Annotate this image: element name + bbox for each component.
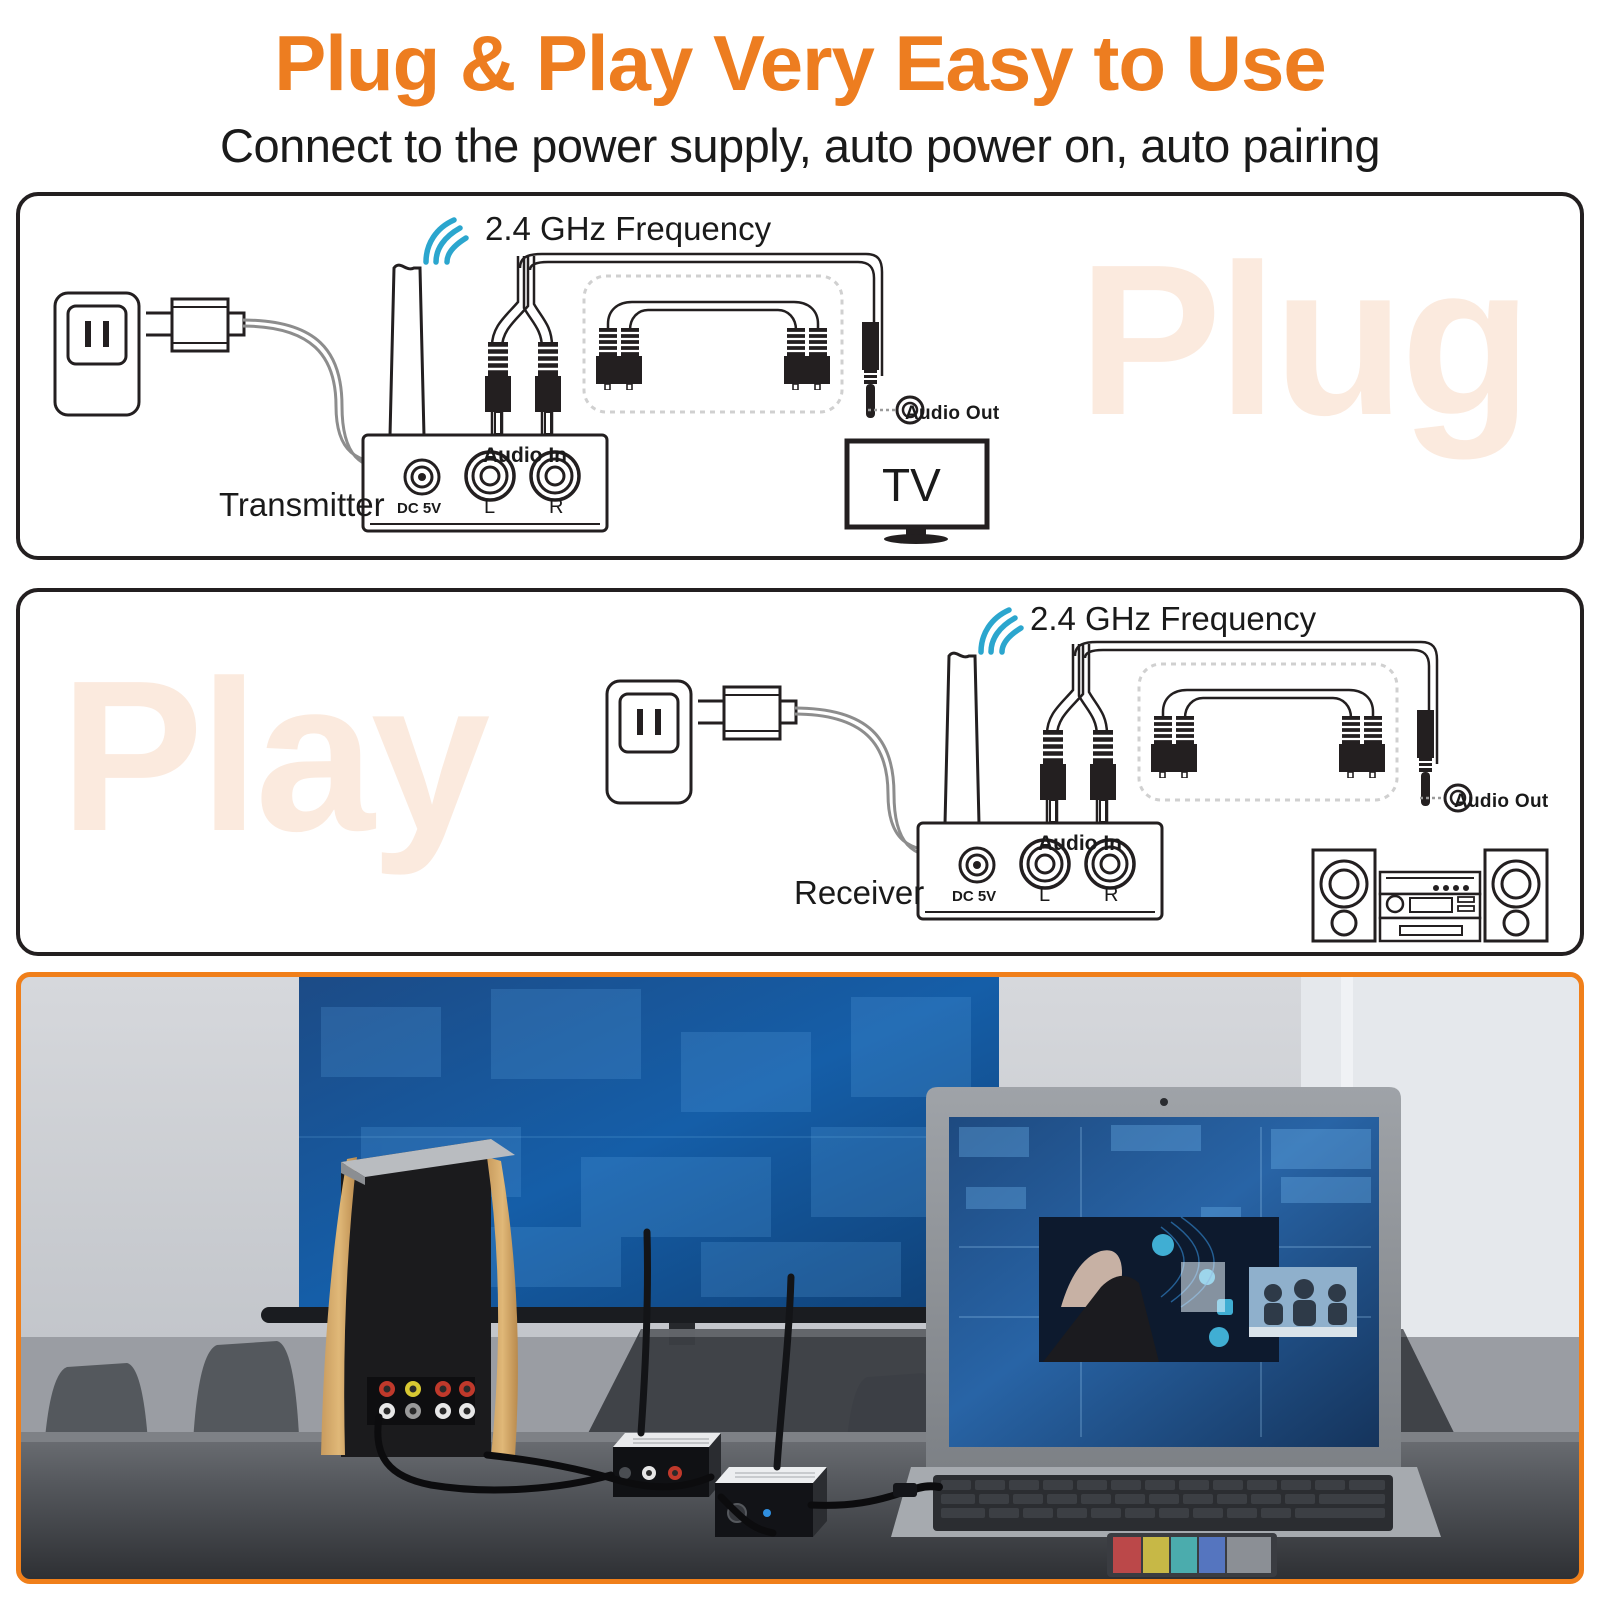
frequency-label-play: 2.4 GHz Frequency <box>1030 600 1316 638</box>
audio-out-dotted-line <box>1420 796 1444 800</box>
page-title: Plug & Play Very Easy to Use <box>0 24 1600 102</box>
receiver-label: Receiver <box>794 874 924 912</box>
aux-35mm-jack-icon <box>854 322 886 428</box>
dc-label-play: DC 5V <box>952 888 996 905</box>
audio-out-label-play: Audio Out <box>1454 791 1549 813</box>
antenna-icon <box>935 634 991 830</box>
product-lifestyle-photo <box>16 972 1584 1584</box>
usb-power-adapter-icon <box>146 294 252 364</box>
rca-to-rca-cable <box>588 280 838 390</box>
wall-outlet-icon <box>52 290 142 418</box>
audio-out-dotted-line <box>868 408 896 412</box>
watermark-play: Play <box>60 648 486 863</box>
usb-power-adapter-icon <box>698 682 804 752</box>
audio-in-label-play: Audio In <box>1038 832 1122 856</box>
stereo-hifi-system-icon <box>1310 844 1550 944</box>
dc-label-plug: DC 5V <box>397 500 441 517</box>
right-port-label-plug: R <box>549 496 563 519</box>
aux-35mm-jack-icon <box>1409 710 1441 816</box>
page-subtitle: Connect to the power supply, auto power … <box>0 118 1600 173</box>
panel-play: Play 2.4 GHz Frequency <box>16 588 1584 956</box>
rca-to-rca-cable <box>1143 668 1393 778</box>
panel-plug: Plug 2.4 GHz Frequency <box>16 192 1584 560</box>
audio-in-label-plug: Audio In <box>483 444 567 468</box>
watermark-plug: Plug <box>1078 232 1528 447</box>
tv-label: TV <box>882 458 941 512</box>
transmitter-label: Transmitter <box>219 486 385 524</box>
photo-scene <box>21 977 1579 1579</box>
left-port-label-play: L <box>1039 884 1050 907</box>
left-port-label-plug: L <box>484 496 495 519</box>
right-port-label-play: R <box>1104 884 1118 907</box>
frequency-label-plug: 2.4 GHz Frequency <box>485 210 771 248</box>
antenna-icon <box>380 246 436 442</box>
header: Plug & Play Very Easy to Use Connect to … <box>0 0 1600 182</box>
infographic-page: Plug & Play Very Easy to Use Connect to … <box>0 0 1600 1600</box>
wall-outlet-icon <box>604 678 694 806</box>
audio-out-label-plug: Audio Out <box>905 403 1000 425</box>
